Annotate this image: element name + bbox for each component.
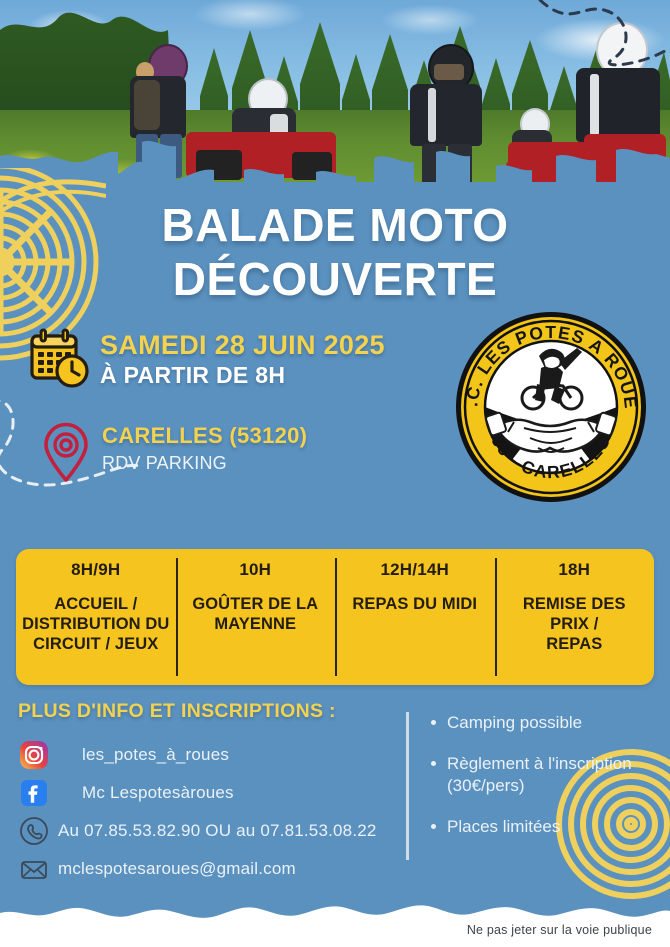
schedule-label: REPAS DU MIDI bbox=[352, 594, 477, 614]
contact-row-email[interactable]: mclespotesaroues@gmail.com bbox=[18, 850, 398, 888]
calendar-clock-icon bbox=[28, 328, 90, 388]
schedule-time: 18H bbox=[558, 560, 590, 580]
schedule-cell-1: 8H/9H ACCUEIL / DISTRIBUTION DU CIRCUIT … bbox=[16, 549, 176, 685]
bullet-item: Places limitées bbox=[431, 816, 656, 838]
contact-row-instagram[interactable]: les_potes_à_roues bbox=[18, 736, 398, 774]
title-line-1: BALADE MOTO bbox=[0, 198, 670, 252]
facebook-icon[interactable] bbox=[18, 777, 50, 809]
schedule-cell-4: 18H REMISE DES PRIX / REPAS bbox=[495, 549, 655, 685]
bottom-torn-strip: Ne pas jeter sur la voie publique bbox=[0, 899, 670, 947]
event-place-row: CARELLES (53120) RDV PARKING bbox=[28, 421, 448, 483]
event-start-time: À PARTIR DE 8H bbox=[100, 361, 385, 389]
schedule-label: GOÛTER DE LA MAYENNE bbox=[192, 594, 318, 634]
schedule-cell-3: 12H/14H REPAS DU MIDI bbox=[335, 549, 495, 685]
contact-row-facebook[interactable]: Mc Lespotesàroues bbox=[18, 774, 398, 812]
event-info: SAMEDI 28 JUIN 2025 À PARTIR DE 8H CAREL… bbox=[28, 328, 448, 483]
event-location: CARELLES (53120) bbox=[102, 423, 307, 449]
facebook-page: Mc Lespotesàroues bbox=[58, 783, 234, 803]
footer-note: Ne pas jeter sur la voie publique bbox=[467, 923, 652, 937]
event-date-text: SAMEDI 28 JUIN 2025 À PARTIR DE 8H bbox=[90, 328, 385, 389]
event-date-row: SAMEDI 28 JUIN 2025 À PARTIR DE 8H bbox=[28, 328, 448, 389]
contact-heading: PLUS D'INFO ET INSCRIPTIONS : bbox=[18, 700, 398, 723]
event-place-text: CARELLES (53120) RDV PARKING bbox=[92, 421, 307, 475]
map-pin-icon bbox=[40, 421, 92, 483]
schedule-cell-2: 10H GOÛTER DE LA MAYENNE bbox=[176, 549, 336, 685]
poster-title: BALADE MOTO DÉCOUVERTE bbox=[0, 198, 670, 306]
email-address: mclespotesaroues@gmail.com bbox=[58, 859, 296, 879]
info-bullets: Camping possible Règlement à l'inscripti… bbox=[406, 712, 656, 860]
phone-numbers: Au 07.85.53.82.90 OU au 07.81.53.08.22 bbox=[58, 821, 377, 841]
schedule-table: 8H/9H ACCUEIL / DISTRIBUTION DU CIRCUIT … bbox=[16, 549, 654, 685]
schedule-time: 12H/14H bbox=[381, 560, 450, 580]
photo-torn-edge bbox=[0, 122, 670, 182]
phone-icon[interactable] bbox=[18, 815, 50, 847]
schedule-label: ACCUEIL / DISTRIBUTION DU CIRCUIT / JEUX bbox=[22, 594, 169, 654]
contact-row-phone[interactable]: Au 07.85.53.82.90 OU au 07.81.53.08.22 bbox=[18, 812, 398, 850]
club-logo: M.C. LES POTES A ROUES 53 - CARELLES bbox=[452, 308, 650, 506]
poster-canvas: BALADE MOTO DÉCOUVERTE bbox=[0, 0, 670, 947]
schedule-time: 8H/9H bbox=[71, 560, 120, 580]
instagram-icon[interactable] bbox=[18, 739, 50, 771]
schedule-label: REMISE DES PRIX / REPAS bbox=[523, 594, 626, 654]
hero-photo bbox=[0, 0, 670, 182]
bullet-item: Camping possible bbox=[431, 712, 656, 734]
bullet-item: Règlement à l'inscription (30€/pers) bbox=[431, 753, 656, 797]
schedule-time: 10H bbox=[239, 560, 271, 580]
event-date: SAMEDI 28 JUIN 2025 bbox=[100, 330, 385, 361]
title-line-2: DÉCOUVERTE bbox=[0, 252, 670, 306]
contact-section: PLUS D'INFO ET INSCRIPTIONS : bbox=[18, 700, 398, 888]
envelope-icon[interactable] bbox=[18, 853, 50, 885]
instagram-handle: les_potes_à_roues bbox=[58, 745, 229, 765]
event-meeting-point: RDV PARKING bbox=[102, 449, 307, 475]
